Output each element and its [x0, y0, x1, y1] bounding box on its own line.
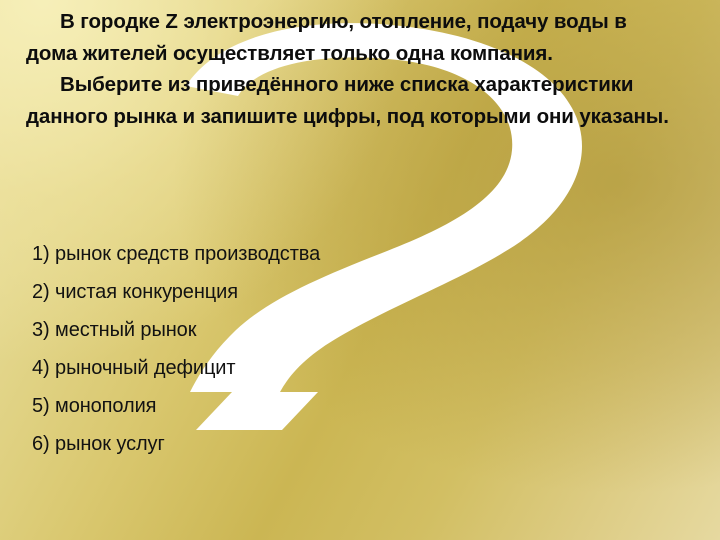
question-text-block: В городке Z электроэнергию, отопление, п… [26, 6, 676, 132]
option-item-2[interactable]: 2) чистая конкуренция [32, 273, 692, 311]
question-paragraph-1: В городке Z электроэнергию, отопление, п… [26, 6, 676, 69]
option-item-1[interactable]: 1) рынок средств производства [32, 235, 692, 273]
slide-canvas: В городке Z электроэнергию, отопление, п… [0, 0, 720, 540]
slide-content: В городке Z электроэнергию, отопление, п… [0, 0, 720, 540]
option-item-4[interactable]: 4) рыночный дефицит [32, 349, 692, 387]
option-item-6[interactable]: 6) рынок услуг [32, 425, 692, 463]
options-list: 1) рынок средств производства 2) чистая … [32, 235, 692, 463]
option-item-5[interactable]: 5) монополия [32, 387, 692, 425]
question-paragraph-2: Выберите из приведённого ниже списка хар… [26, 69, 676, 132]
option-item-3[interactable]: 3) местный рынок [32, 311, 692, 349]
